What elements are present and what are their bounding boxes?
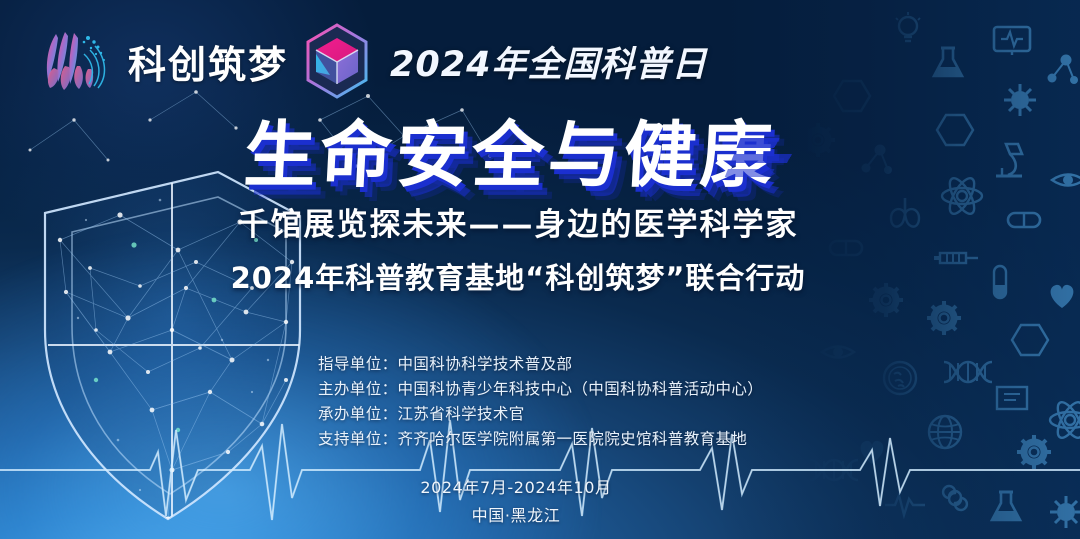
main-title-wrapper: 生命安全与健康 — [244, 118, 776, 193]
brand-title: 科创筑梦 — [128, 34, 288, 89]
location: 中国·黑龙江 — [0, 502, 1032, 530]
lotus-wing-logo-icon — [34, 24, 120, 98]
title-block: 生命安全与健康 千馆展览探未来——身边的医学科学家 2024年科普教育基地“科创… — [0, 118, 1080, 297]
title-motion-streak — [719, 138, 832, 190]
date-range: 2024年7月-2024年10月 — [0, 474, 1032, 502]
poster-header: 科创筑梦 — [34, 22, 707, 100]
organizer-line: 指导单位：中国科协科学技术普及部 — [318, 352, 763, 377]
page-title: 生命安全与健康 — [242, 118, 778, 193]
organizer-list: 指导单位：中国科协科学技术普及部 主办单位：中国科协青少年科技中心（中国科协科普… — [318, 352, 763, 452]
event-title: 2024年全国科普日 — [390, 36, 707, 87]
organizer-line: 支持单位：齐齐哈尔医学院附属第一医院院史馆科普教育基地 — [318, 427, 763, 452]
subtitle-primary: 千馆展览探未来——身边的医学科学家 — [0, 199, 1036, 244]
organizer-line: 承办单位：江苏省科学技术官 — [318, 402, 763, 427]
organizer-line: 主办单位：中国科协青少年科技中心（中国科协科普活动中心） — [318, 377, 763, 402]
open-cube-logo-icon — [302, 22, 372, 100]
subtitle-secondary: 2024年科普教育基地“科创筑梦”联合行动 — [0, 255, 1036, 297]
poster-footer: 2024年7月-2024年10月 中国·黑龙江 — [0, 474, 1080, 530]
poster-canvas: 科创筑梦 — [0, 0, 1080, 539]
